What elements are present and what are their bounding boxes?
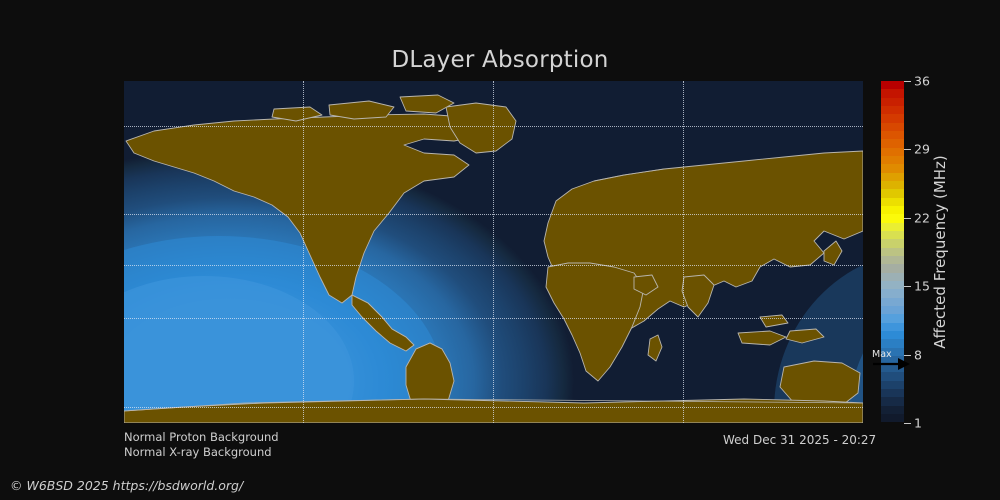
colorbar-segment xyxy=(881,339,904,347)
world-absorption-map[interactable] xyxy=(124,81,863,423)
colorbar-segment xyxy=(881,164,904,172)
colorbar-segment xyxy=(881,214,904,222)
colorbar-tick-mark xyxy=(904,218,911,219)
colorbar-segment xyxy=(881,356,904,364)
colorbar-segment xyxy=(881,273,904,281)
timestamp-label: Wed Dec 31 2025 - 20:27 xyxy=(723,433,876,447)
colorbar-segment xyxy=(881,223,904,231)
colorbar-segment xyxy=(881,206,904,214)
colorbar-segment xyxy=(881,414,904,422)
colorbar-segment xyxy=(881,98,904,106)
colorbar-segment xyxy=(881,381,904,389)
colorbar-segment xyxy=(881,397,904,405)
colorbar-segment xyxy=(881,248,904,256)
colorbar-gradient xyxy=(881,81,904,423)
colorbar-segment xyxy=(881,231,904,239)
colorbar-tick-mark xyxy=(904,149,911,150)
proton-background-note: Normal Proton Background xyxy=(124,430,279,444)
colorbar-segment xyxy=(881,256,904,264)
colorbar-tick-mark xyxy=(904,81,911,82)
colorbar-tick-label: 29 xyxy=(914,142,930,157)
colorbar-segment xyxy=(881,364,904,372)
colorbar-tick-label: 1 xyxy=(914,416,922,431)
colorbar-segment xyxy=(881,306,904,314)
colorbar-segment xyxy=(881,89,904,97)
colorbar-tick-mark xyxy=(904,423,911,424)
colorbar-segment xyxy=(881,131,904,139)
colorbar-tick-mark xyxy=(904,355,911,356)
colorbar-segment xyxy=(881,348,904,356)
colorbar-segment xyxy=(881,406,904,414)
colorbar-segment xyxy=(881,281,904,289)
colorbar-tick-label: 15 xyxy=(914,279,930,294)
colorbar-axis-label: Affected Frequency (MHz) xyxy=(929,81,951,423)
colorbar-tick-label: 22 xyxy=(914,210,930,225)
colorbar-segment xyxy=(881,173,904,181)
colorbar-segment xyxy=(881,289,904,297)
dlayer-absorption-screenshot: DLayer Absorption xyxy=(0,0,1000,500)
colorbar-segment xyxy=(881,81,904,89)
colorbar-segment xyxy=(881,181,904,189)
map-layers xyxy=(124,81,863,423)
colorbar-tick-mark xyxy=(904,286,911,287)
colorbar-segment xyxy=(881,198,904,206)
colorbar-tick-label: 36 xyxy=(914,74,930,89)
colorbar-segment xyxy=(881,106,904,114)
colorbar-segment xyxy=(881,264,904,272)
colorbar-segment xyxy=(881,389,904,397)
colorbar-segment xyxy=(881,156,904,164)
colorbar-segment xyxy=(881,331,904,339)
colorbar-tick-label: 8 xyxy=(914,347,922,362)
map-canvas xyxy=(124,81,863,423)
colorbar-segment xyxy=(881,314,904,322)
colorbar[interactable] xyxy=(881,81,904,423)
colorbar-segment xyxy=(881,298,904,306)
xray-background-note: Normal X-ray Background xyxy=(124,445,272,459)
page-title: DLayer Absorption xyxy=(0,47,1000,73)
colorbar-segment xyxy=(881,239,904,247)
colorbar-segment xyxy=(881,323,904,331)
colorbar-segment xyxy=(881,148,904,156)
colorbar-segment xyxy=(881,189,904,197)
colorbar-segment xyxy=(881,372,904,380)
colorbar-segment xyxy=(881,139,904,147)
colorbar-segment xyxy=(881,123,904,131)
colorbar-segment xyxy=(881,114,904,122)
copyright-label: © W6BSD 2025 https://bsdworld.org/ xyxy=(10,478,243,493)
